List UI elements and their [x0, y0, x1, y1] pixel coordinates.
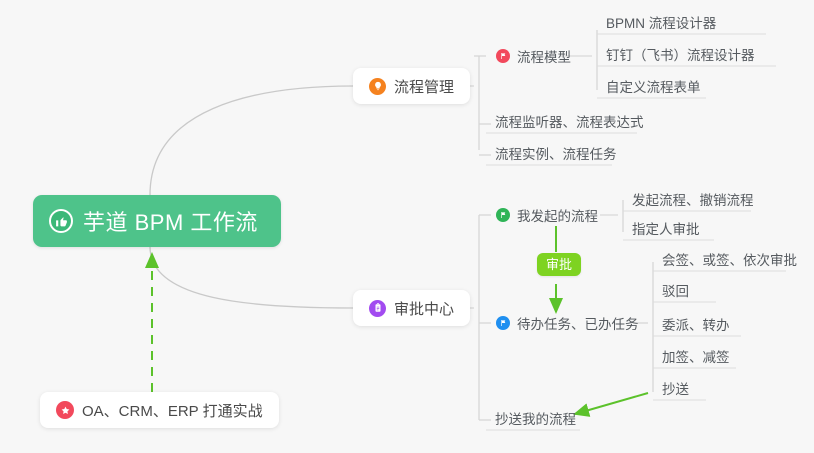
node-todo-done-tasks-label: 待办任务、已办任务 [517, 313, 639, 333]
leaf-cc-to-me-label: 抄送我的流程 [495, 408, 576, 428]
leaf-cc-to-me[interactable]: 抄送我的流程 [487, 404, 584, 432]
leaf-bpmn-designer[interactable]: BPMN 流程设计器 [598, 8, 724, 36]
leaf-bpmn-designer-label: BPMN 流程设计器 [606, 12, 716, 32]
edge-root-to-approval-center [150, 247, 353, 308]
leaf-reject-label: 驳回 [662, 280, 689, 300]
arrow-cc-to-ccme [575, 393, 648, 414]
node-approval-center[interactable]: 审批中心 [353, 290, 470, 326]
leaf-start-cancel-process[interactable]: 发起流程、撤销流程 [624, 185, 762, 213]
flag-green-icon [496, 208, 510, 222]
root-label: 芋道 BPM 工作流 [83, 205, 258, 237]
leaf-start-cancel-process-label: 发起流程、撤销流程 [632, 189, 754, 209]
leaf-custom-form-label: 自定义流程表单 [606, 76, 701, 96]
node-todo-done-tasks[interactable]: 待办任务、已办任务 [488, 309, 647, 337]
node-process-management[interactable]: 流程管理 [353, 68, 470, 104]
flag-blue-icon [496, 316, 510, 330]
clipboard-icon [369, 300, 386, 317]
lightbulb-icon [369, 78, 386, 95]
node-integration-note-label: OA、CRM、ERP 打通实战 [82, 400, 263, 421]
leaf-dingtalk-designer-label: 钉钉（飞书）流程设计器 [606, 44, 755, 64]
leaf-process-listener[interactable]: 流程监听器、流程表达式 [487, 107, 652, 135]
approval-pill: 审批 [537, 253, 581, 276]
leaf-add-remove-sign-label: 加签、减签 [662, 346, 730, 366]
node-my-initiated[interactable]: 我发起的流程 [488, 201, 606, 229]
node-process-model[interactable]: 流程模型 [488, 42, 579, 70]
star-icon [56, 401, 74, 419]
node-approval-center-label: 审批中心 [394, 298, 454, 319]
node-integration-note[interactable]: OA、CRM、ERP 打通实战 [40, 392, 279, 428]
leaf-assignee-approval-label: 指定人审批 [632, 218, 700, 238]
leaf-countersign-label: 会签、或签、依次审批 [662, 249, 797, 269]
mindmap-canvas: 芋道 BPM 工作流 流程管理 流程模型 BPMN 流程设计器 钉钉（飞书）流程… [0, 0, 814, 453]
leaf-reject[interactable]: 驳回 [654, 276, 697, 304]
leaf-process-instance[interactable]: 流程实例、流程任务 [487, 139, 625, 167]
leaf-custom-form[interactable]: 自定义流程表单 [598, 72, 709, 100]
leaf-cc[interactable]: 抄送 [654, 374, 697, 402]
flag-red-icon [496, 49, 510, 63]
node-process-model-label: 流程模型 [517, 46, 571, 66]
node-my-initiated-label: 我发起的流程 [517, 205, 598, 225]
node-process-management-label: 流程管理 [394, 76, 454, 97]
thumbs-up-icon [49, 209, 73, 233]
leaf-cc-label: 抄送 [662, 378, 689, 398]
leaf-delegate-transfer[interactable]: 委派、转办 [654, 310, 738, 338]
leaf-countersign[interactable]: 会签、或签、依次审批 [654, 245, 805, 273]
edge-root-to-process-management [150, 86, 353, 195]
leaf-process-instance-label: 流程实例、流程任务 [495, 143, 617, 163]
leaf-delegate-transfer-label: 委派、转办 [662, 314, 730, 334]
leaf-process-listener-label: 流程监听器、流程表达式 [495, 111, 644, 131]
leaf-add-remove-sign[interactable]: 加签、减签 [654, 342, 738, 370]
leaf-dingtalk-designer[interactable]: 钉钉（飞书）流程设计器 [598, 40, 763, 68]
root-node[interactable]: 芋道 BPM 工作流 [33, 195, 281, 247]
leaf-assignee-approval[interactable]: 指定人审批 [624, 214, 708, 242]
